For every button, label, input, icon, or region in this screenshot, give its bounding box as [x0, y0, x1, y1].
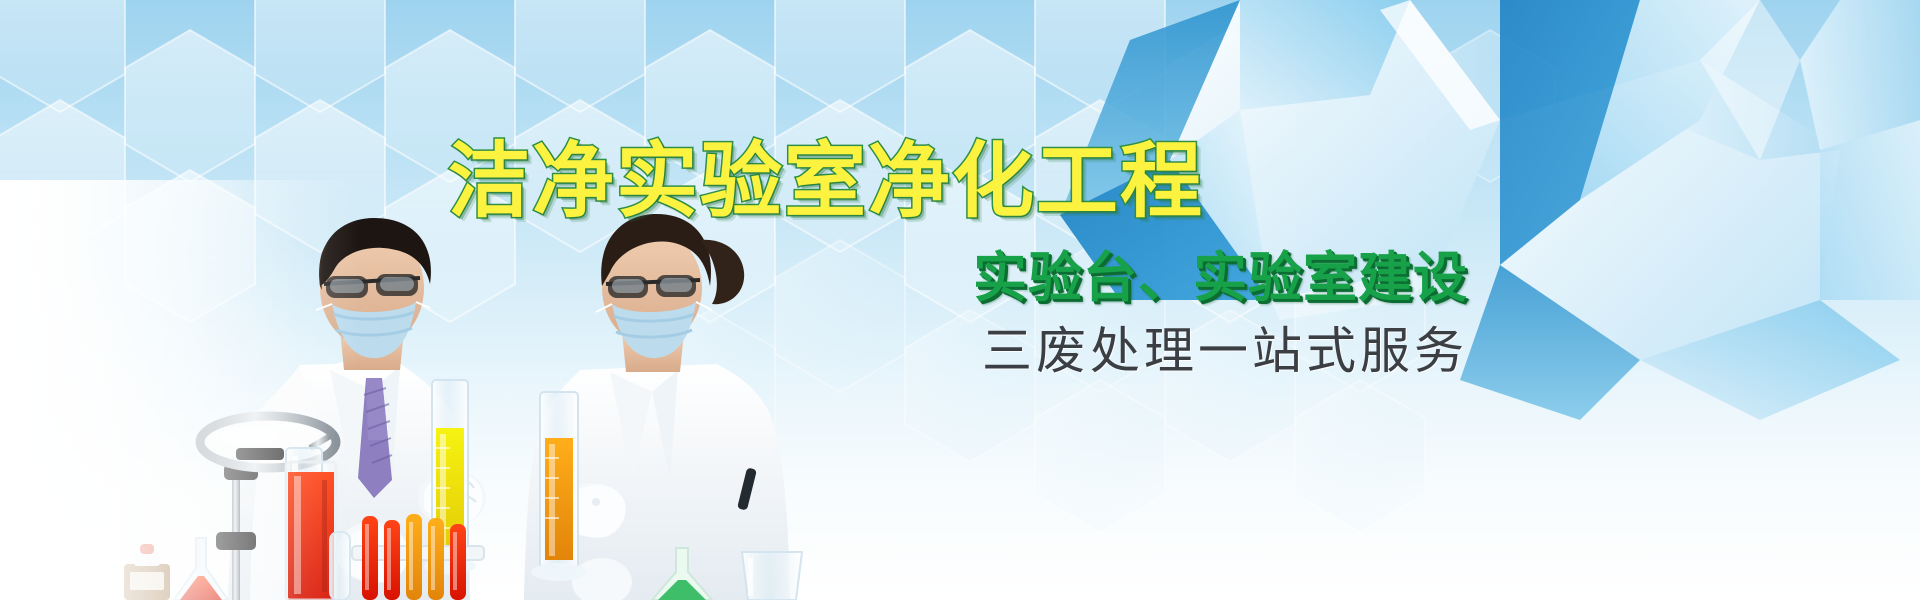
banner-subtitle: 实验台、实验室建设 — [448, 248, 1468, 308]
orange-graduated-cylinder — [531, 392, 587, 581]
banner-title: 洁净实验室净化工程 — [448, 138, 1468, 226]
beaker — [742, 552, 802, 600]
marketing-banner: 洁净实验室净化工程 实验台、实验室建设 三废处理一站式服务 — [0, 0, 1920, 600]
test-tube-rack — [352, 514, 484, 600]
small-test-tube — [330, 532, 350, 600]
banner-tagline: 三废处理一站式服务 — [448, 322, 1468, 380]
banner-text-block: 洁净实验室净化工程 实验台、实验室建设 三废处理一站式服务 — [448, 138, 1468, 380]
